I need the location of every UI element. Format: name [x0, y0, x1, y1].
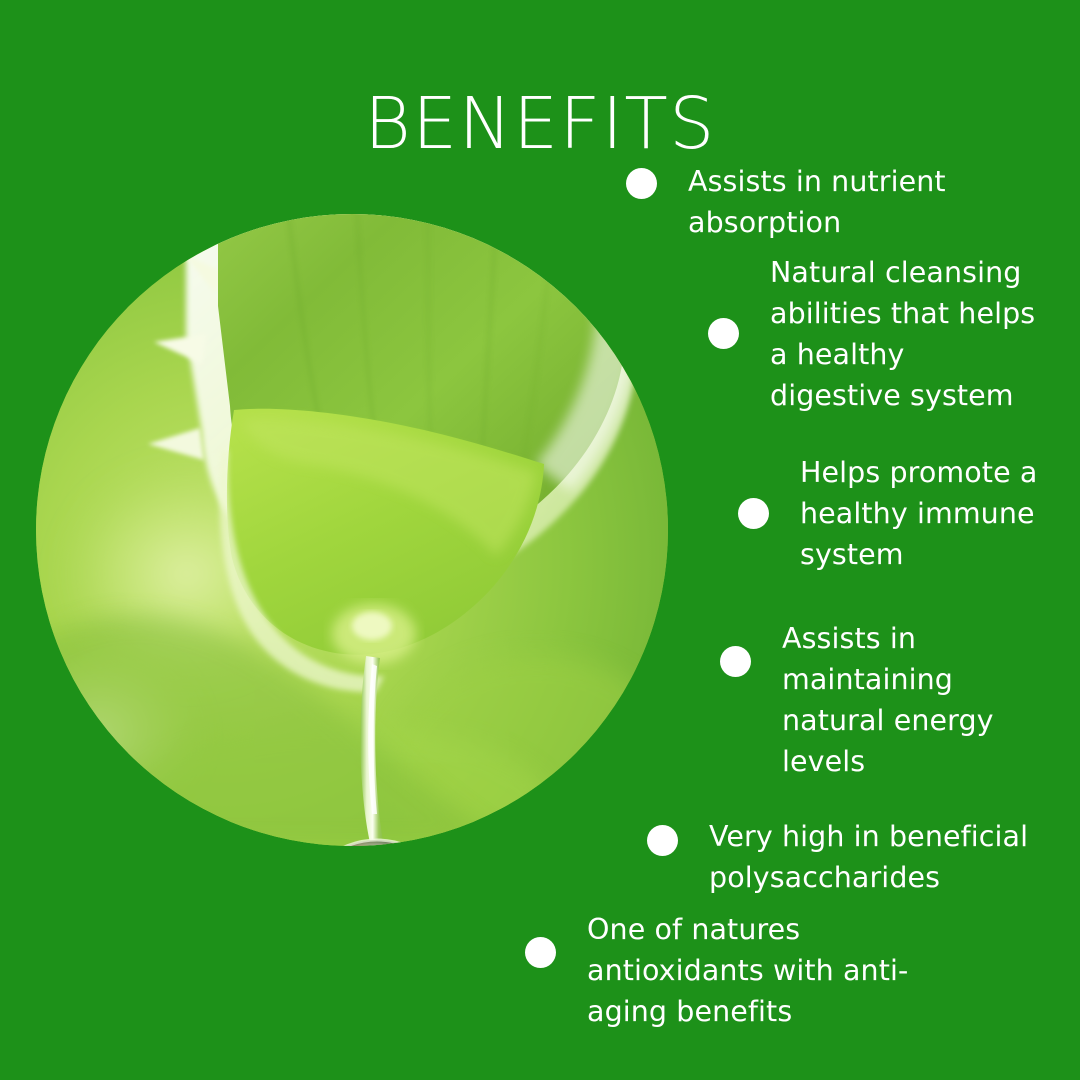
benefit-text: Assists in nutrient absorption [688, 161, 1018, 243]
bullet-dot-icon [647, 825, 678, 856]
benefit-item-2: Natural cleansing abilities that helps a… [708, 318, 1080, 416]
bullet-dot-icon [525, 937, 556, 968]
page-title: BENEFITS [0, 88, 1080, 159]
bullet-dot-icon [720, 646, 751, 677]
benefit-item-6: One of natures antioxidants with anti- a… [525, 937, 917, 1032]
bullet-dot-icon [708, 318, 739, 349]
benefit-text: Very high in beneficial polysaccharides [709, 816, 1049, 898]
benefits-poster: BENEFITS [0, 0, 1080, 1080]
bullet-dot-icon [626, 168, 657, 199]
benefit-text: One of natures antioxidants with anti- a… [587, 909, 917, 1032]
benefit-item-3: Helps promote a healthy immune system [738, 498, 1080, 575]
benefit-item-1: Assists in nutrient absorption [626, 168, 1018, 243]
aloe-vera-leaf-with-water-droplet-icon [36, 214, 668, 846]
benefit-item-4: Assists in maintaining natural energy le… [720, 646, 1080, 782]
aloe-vera-photo [36, 214, 668, 846]
benefit-text: Assists in maintaining natural energy le… [782, 618, 1080, 782]
bullet-dot-icon [738, 498, 769, 529]
benefit-text: Helps promote a healthy immune system [800, 452, 1080, 575]
benefit-text: Natural cleansing abilities that helps a… [770, 252, 1080, 416]
benefit-item-5: Very high in beneficial polysaccharides [647, 825, 1049, 898]
